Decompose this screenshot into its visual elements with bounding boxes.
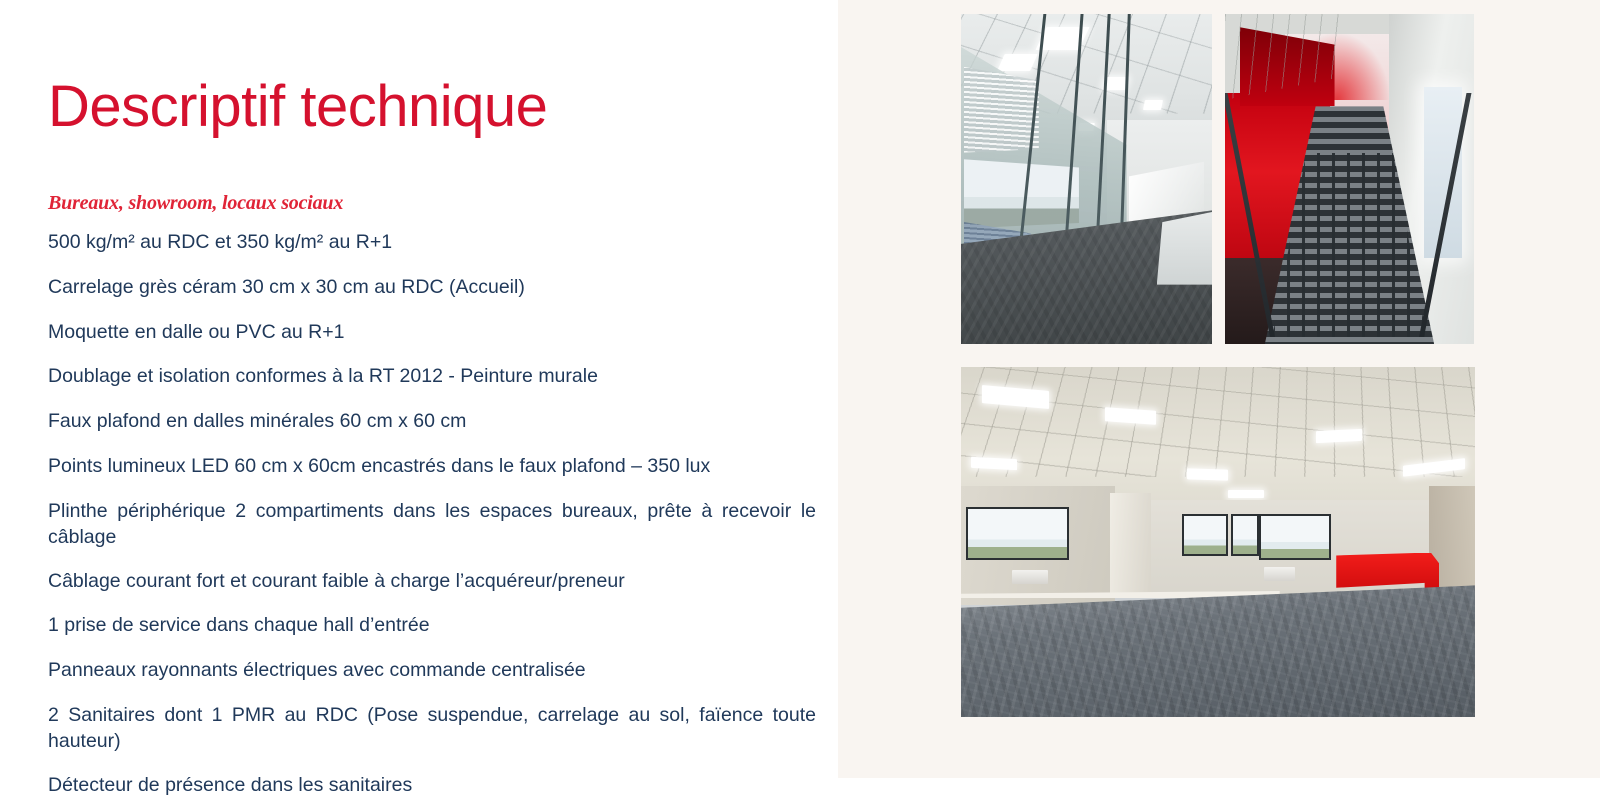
radiator (1264, 567, 1295, 581)
window (1231, 514, 1259, 556)
red-stairwell-photo (1225, 14, 1474, 344)
slide-descriptif-technique: Descriptif technique Bureaux, showroom, … (0, 0, 1600, 778)
spec-line: Doublage et isolation conformes à la RT … (48, 363, 816, 389)
stairwell-scene (1225, 14, 1474, 344)
spec-line: Moquette en dalle ou PVC au R+1 (48, 319, 816, 345)
reception-counter (1157, 212, 1212, 285)
specification-list: Bureaux, showroom, locaux sociaux 500 kg… (48, 192, 816, 798)
spec-line: Faux plafond en dalles minérales 60 cm x… (48, 408, 816, 434)
text-panel: Descriptif technique Bureaux, showroom, … (0, 0, 838, 778)
corridor-scene (961, 14, 1212, 344)
openspace-scene (961, 367, 1475, 717)
spec-line: Plinthe périphérique 2 compartiments dan… (48, 498, 816, 551)
column (1110, 493, 1151, 598)
radiator (1012, 570, 1048, 584)
spec-line: 500 kg/m² au RDC et 350 kg/m² au R+1 (48, 229, 816, 255)
page-title: Descriptif technique (48, 75, 547, 139)
window (1259, 514, 1331, 560)
led-panel (1228, 490, 1264, 499)
spec-line: Détecteur de présence dans les sanitaire… (48, 772, 816, 798)
image-panel (838, 0, 1600, 778)
led-panel (1143, 100, 1163, 110)
window (966, 507, 1069, 560)
led-panel (1187, 468, 1228, 480)
spec-line: Panneaux rayonnants électriques avec com… (48, 657, 816, 683)
spec-line: 2 Sanitaires dont 1 PMR au RDC (Pose sus… (48, 702, 816, 755)
spec-line: 1 prise de service dans chaque hall d’en… (48, 612, 816, 638)
open-plan-office-photo (961, 367, 1475, 717)
window (1182, 514, 1228, 556)
window-blinds (964, 67, 1039, 153)
office-corridor-photo (961, 14, 1212, 344)
spec-line: Carrelage grès céram 30 cm x 30 cm au RD… (48, 274, 816, 300)
spec-subtitle: Bureaux, showroom, locaux sociaux (48, 192, 816, 215)
spec-line: Câblage courant fort et courant faible à… (48, 568, 816, 594)
spec-line: Points lumineux LED 60 cm x 60cm encastr… (48, 453, 816, 479)
ceiling-tile-grid (961, 367, 1475, 478)
